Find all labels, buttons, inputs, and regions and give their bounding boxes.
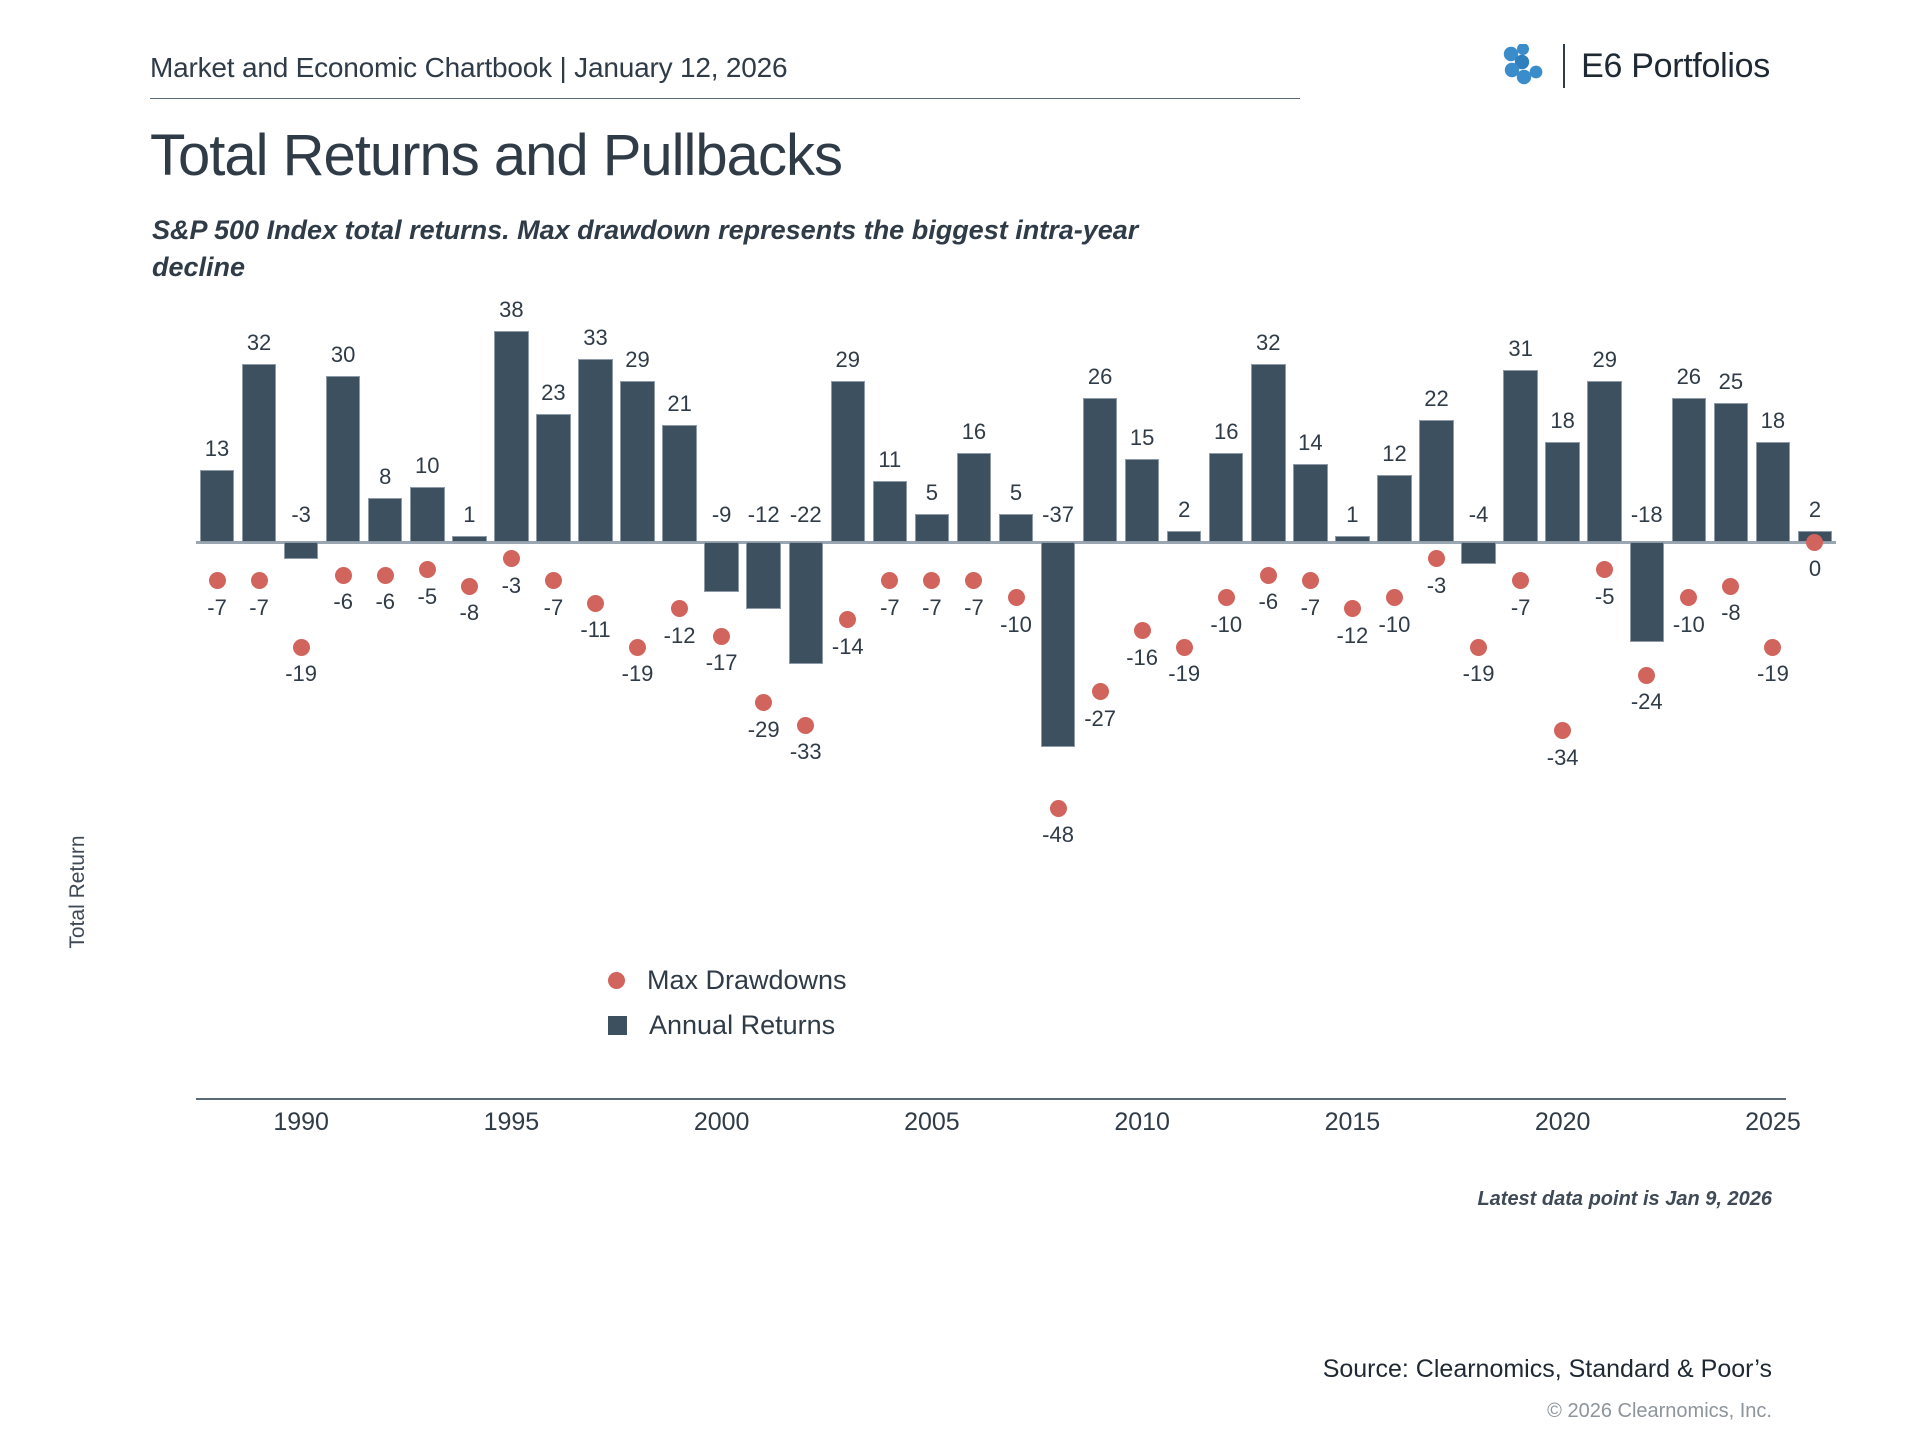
max-drawdown-dot [1806,534,1823,551]
max-drawdown-dot [1302,572,1319,589]
annual-return-value-label: 16 [924,419,1024,445]
annual-return-value-label: 32 [1218,330,1318,356]
header-divider [150,98,1300,99]
max-drawdown-dot [251,572,268,589]
annual-return-bar [494,331,528,542]
legend-square-icon [608,1016,627,1035]
max-drawdown-dot [1722,578,1739,595]
annual-return-bar [200,470,234,542]
annual-return-value-label: 38 [461,297,561,323]
annual-return-bar [1672,398,1706,542]
annual-return-value-label: 25 [1681,369,1781,395]
max-drawdown-dot [1260,567,1277,584]
max-drawdown-value-label: -48 [1008,822,1108,848]
max-drawdown-value-label: -10 [966,612,1066,638]
latest-data-note: Latest data point is Jan 9, 2026 [1477,1188,1772,1211]
max-drawdown-dot [881,572,898,589]
max-drawdown-dot [293,639,310,656]
max-drawdown-dot [1638,667,1655,684]
page-header: Market and Economic Chartbook | January … [150,52,1770,122]
copyright-note: © 2026 Clearnomics, Inc. [1547,1400,1772,1423]
annual-return-bar [915,514,949,542]
max-drawdown-dot [923,572,940,589]
x-axis-line [196,1098,1786,1100]
brand-logo: E6 Portfolios [1499,44,1770,88]
max-drawdown-value-label: -19 [1134,661,1234,687]
max-drawdown-dot [755,694,772,711]
max-drawdown-value-label: -24 [1597,689,1697,715]
max-drawdown-dot [671,600,688,617]
annual-return-value-label: 26 [1050,364,1150,390]
max-drawdown-value-label: -17 [672,650,772,676]
source-note: Source: Clearnomics, Standard & Poor’s [1323,1355,1772,1384]
max-drawdown-dot [1008,589,1025,606]
max-drawdown-dot [1596,561,1613,578]
x-axis-tick-label: 1990 [251,1108,351,1137]
max-drawdown-dot [1470,639,1487,656]
max-drawdown-dot [335,567,352,584]
e6-dots-logo-icon [1499,44,1547,88]
max-drawdown-value-label: -19 [251,661,351,687]
logo-divider [1563,44,1565,88]
annual-return-bar [1503,370,1537,542]
annual-return-value-label: 30 [293,342,393,368]
annual-return-bar [704,542,738,592]
x-axis-tick-label: 2000 [672,1108,772,1137]
max-drawdown-value-label: -34 [1513,745,1613,771]
max-drawdown-dot [587,595,604,612]
annual-return-bar [1083,398,1117,542]
annual-return-value-label: 18 [1723,408,1823,434]
x-axis-tick-label: 2015 [1302,1108,1402,1137]
legend-dot-icon [608,972,625,989]
annual-return-bar [284,542,318,559]
annual-return-bar [536,414,570,542]
x-axis-tick-label: 1995 [461,1108,561,1137]
annual-return-value-label: 29 [798,347,898,373]
max-drawdown-dot [1428,550,1445,567]
legend-item-returns: Annual Returns [608,1010,847,1041]
max-drawdown-dot [419,561,436,578]
annual-return-bar [746,542,780,609]
max-drawdown-dot [377,567,394,584]
max-drawdown-value-label: -10 [1344,612,1444,638]
annual-return-value-label: 10 [377,453,477,479]
annual-return-bar [368,498,402,542]
annual-return-value-label: 2 [1765,497,1865,523]
max-drawdown-value-label: 0 [1765,556,1865,582]
annual-return-bar [1461,542,1495,564]
annual-return-bar [326,376,360,543]
legend-label-returns: Annual Returns [649,1010,835,1041]
annual-return-bar [1377,475,1411,542]
max-drawdown-value-label: -8 [1681,600,1781,626]
max-drawdown-dot [713,628,730,645]
max-drawdown-dot [1134,622,1151,639]
annual-return-bar [1209,453,1243,542]
annual-return-value-label: 22 [1387,386,1487,412]
max-drawdown-dot [1092,683,1109,700]
annual-return-bar [578,359,612,542]
annual-return-bar [1545,442,1579,542]
max-drawdown-dot [503,550,520,567]
max-drawdown-dot [1764,639,1781,656]
chart-container: Total Return 1332-33081013823332921-9-12… [0,320,1920,1120]
max-drawdown-value-label: -27 [1050,706,1150,732]
annual-return-value-label: 29 [588,347,688,373]
max-drawdown-dot [1050,800,1067,817]
annual-return-value-label: 11 [840,447,940,473]
max-drawdown-value-label: -14 [798,634,898,660]
max-drawdown-dot [797,717,814,734]
page-subtitle: S&P 500 Index total returns. Max drawdow… [152,212,1212,287]
annual-return-value-label: 21 [630,391,730,417]
x-axis-tick-label: 2020 [1513,1108,1613,1137]
max-drawdown-value-label: -33 [756,739,856,765]
legend-item-drawdowns: Max Drawdowns [608,965,847,996]
max-drawdown-value-label: -5 [1555,584,1655,610]
plot-area: 1332-33081013823332921-9-12-2229115165-3… [196,320,1836,1120]
annual-return-bar [1756,442,1790,542]
page-title: Total Returns and Pullbacks [150,122,842,189]
max-drawdown-dot [965,572,982,589]
x-axis-tick-label: 2010 [1092,1108,1192,1137]
chart-legend: Max Drawdowns Annual Returns [608,965,847,1041]
max-drawdown-dot [209,572,226,589]
annual-return-bar [452,536,486,542]
x-axis-tick-label: 2025 [1723,1108,1823,1137]
max-drawdown-dot [1176,639,1193,656]
annual-return-bar [1335,536,1369,542]
max-drawdown-value-label: -19 [1429,661,1529,687]
annual-return-bar [1167,531,1201,542]
y-axis-title: Total Return [66,772,90,1012]
max-drawdown-dot [1512,572,1529,589]
x-axis-tick-label: 2005 [882,1108,982,1137]
max-drawdown-value-label: -19 [1723,661,1823,687]
logo-wordmark: E6 Portfolios [1581,47,1770,86]
max-drawdown-dot [1554,722,1571,739]
legend-label-drawdowns: Max Drawdowns [647,965,847,996]
